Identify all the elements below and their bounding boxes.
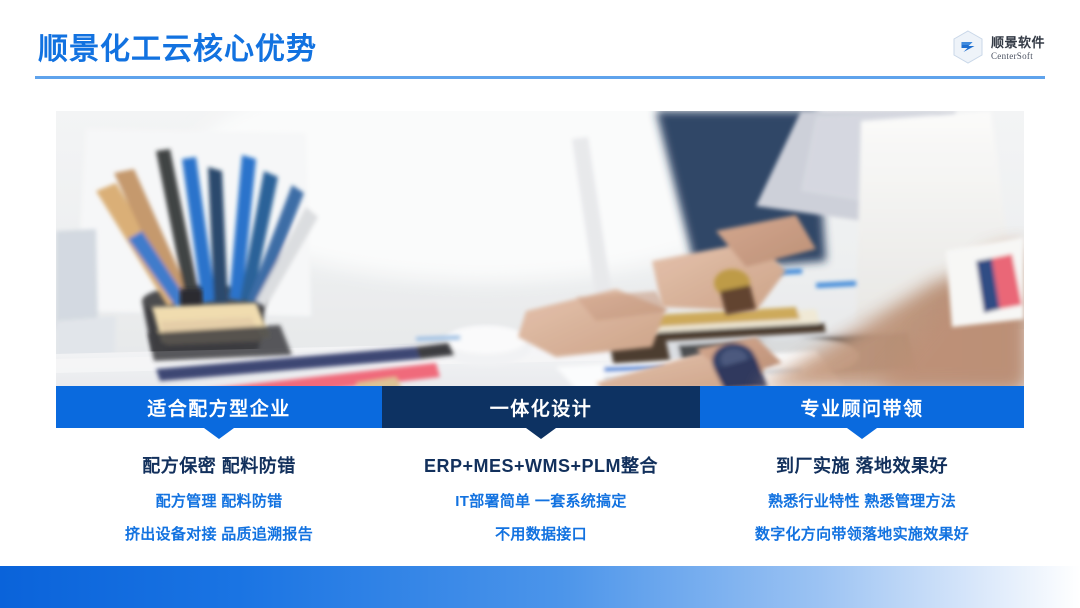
feature-banner-1-label: 适合配方型企业 (147, 394, 291, 421)
logo-chinese-name: 顺景软件 (991, 36, 1045, 49)
company-logo: 顺景软件 CenterSoft (952, 30, 1045, 64)
feature-column-2: ERP+MES+WMS+PLM整合 IT部署简单 一套系统搞定 不用数据接口 (382, 452, 700, 544)
feature-banner-3-label: 专业顾问带领 (800, 394, 923, 421)
feature-column-3-heading: 到厂实施 落地效果好 (700, 452, 1024, 478)
banner-pointer-3-icon (847, 428, 877, 439)
page-title: 顺景化工云核心优势 (38, 24, 317, 68)
feature-banner-3[interactable]: 专业顾问带领 (700, 386, 1024, 428)
banner-pointer-1-icon (204, 428, 234, 439)
feature-column-1-line-1: 配方管理 配料防错 (56, 490, 382, 511)
slide-header: 顺景化工云核心优势 顺景软件 CenterSoft (0, 0, 1080, 88)
feature-column-2-line-1: IT部署简单 一套系统搞定 (382, 490, 700, 511)
header-divider (35, 76, 1045, 79)
photo-illustration (56, 111, 1024, 389)
logo-text-block: 顺景软件 CenterSoft (991, 34, 1045, 61)
feature-banner-1[interactable]: 适合配方型企业 (56, 386, 382, 428)
office-desk-photo (56, 111, 1024, 389)
feature-banner-row: 适合配方型企业 一体化设计 专业顾问带领 (56, 386, 1024, 428)
logo-english-name: CenterSoft (991, 52, 1045, 61)
feature-banner-2-label: 一体化设计 (490, 394, 593, 421)
footer-gradient-bar (0, 566, 1080, 608)
feature-column-3: 到厂实施 落地效果好 熟悉行业特性 熟悉管理方法 数字化方向带领落地实施效果好 (700, 452, 1024, 544)
feature-column-1-heading: 配方保密 配料防错 (56, 452, 382, 478)
feature-column-2-line-2: 不用数据接口 (382, 523, 700, 544)
feature-column-2-heading: ERP+MES+WMS+PLM整合 (382, 452, 700, 478)
feature-column-3-line-2: 数字化方向带领落地实施效果好 (700, 523, 1024, 544)
feature-column-3-line-1: 熟悉行业特性 熟悉管理方法 (700, 490, 1024, 511)
feature-column-1: 配方保密 配料防错 配方管理 配料防错 挤出设备对接 品质追溯报告 (56, 452, 382, 544)
banner-pointer-2-icon (526, 428, 556, 439)
hexagon-s-logo-icon (952, 30, 984, 64)
feature-banner-2[interactable]: 一体化设计 (382, 386, 700, 428)
feature-column-1-line-2: 挤出设备对接 品质追溯报告 (56, 523, 382, 544)
feature-columns: 配方保密 配料防错 配方管理 配料防错 挤出设备对接 品质追溯报告 ERP+ME… (56, 452, 1024, 544)
